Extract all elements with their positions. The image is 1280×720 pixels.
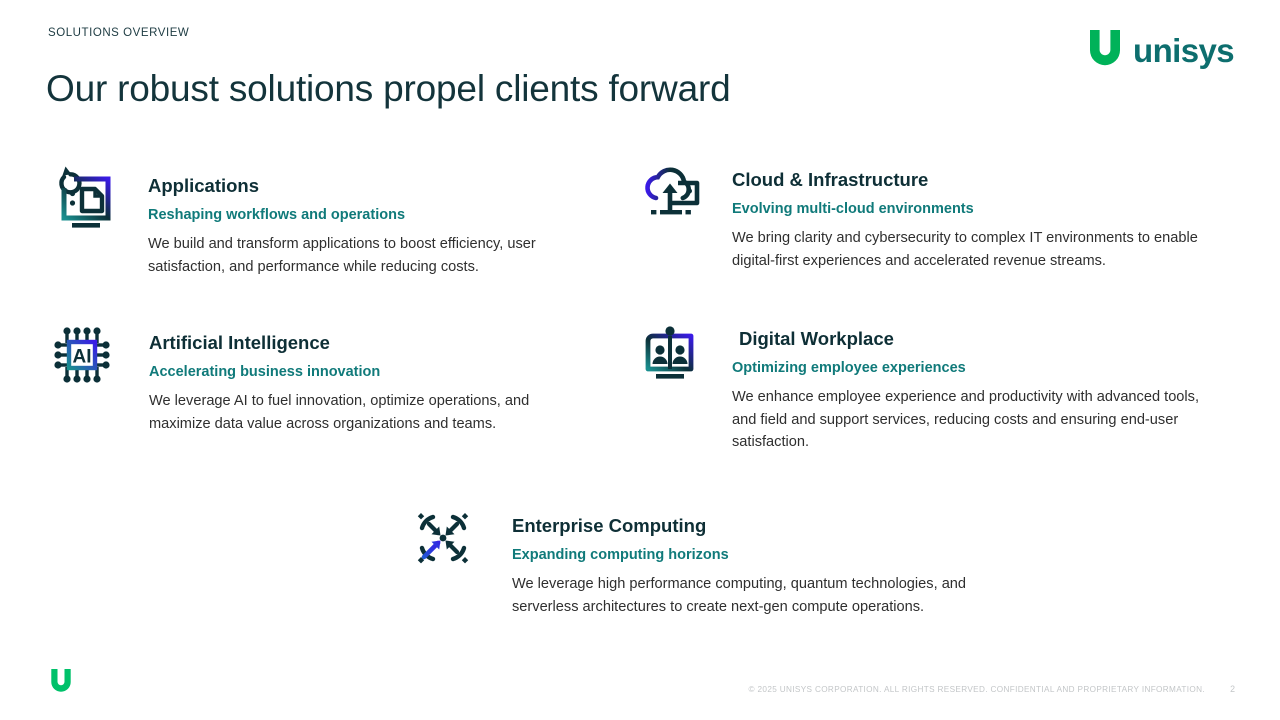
footer-copyright: © 2025 UNISYS CORPORATION. ALL RIGHTS RE…: [749, 685, 1206, 694]
app-window-refresh-icon: [46, 162, 118, 234]
card-applications: Applications Reshaping workflows and ope…: [46, 162, 566, 278]
card-title: Digital Workplace: [732, 328, 1214, 350]
card-artificial-intelligence: AI Artificial Intelligence Accelerating …: [46, 319, 566, 435]
cloud-server-upload-icon: [634, 158, 706, 230]
card-title: Cloud & Infrastructure: [732, 169, 1214, 191]
card-subtitle: Expanding computing horizons: [512, 546, 987, 565]
card-body: Enterprise Computing Expanding computing…: [512, 502, 987, 618]
card-title: Applications: [148, 175, 566, 197]
unisys-wordmark: unisys: [1133, 34, 1234, 67]
card-body: Cloud & Infrastructure Evolving multi-cl…: [732, 158, 1214, 272]
card-body: Applications Reshaping workflows and ope…: [148, 162, 566, 278]
presentation-people-icon: [634, 317, 706, 389]
card-cloud-infrastructure: Cloud & Infrastructure Evolving multi-cl…: [634, 158, 1214, 272]
card-description: We bring clarity and cybersecurity to co…: [732, 227, 1214, 272]
slide: SOLUTIONS OVERVIEW Our robust solutions …: [0, 0, 1280, 720]
converging-arrows-icon: [407, 502, 479, 574]
card-subtitle: Evolving multi-cloud environments: [732, 200, 1214, 219]
card-body: Artificial Intelligence Accelerating bus…: [149, 319, 566, 435]
card-body: Digital Workplace Optimizing employee ex…: [732, 317, 1214, 454]
card-description: We enhance employee experience and produ…: [732, 386, 1214, 454]
page-title: Our robust solutions propel clients forw…: [46, 66, 730, 112]
card-description: We build and transform applications to b…: [148, 233, 566, 278]
card-title: Enterprise Computing: [512, 515, 987, 537]
card-subtitle: Reshaping workflows and operations: [148, 206, 566, 225]
card-title: Artificial Intelligence: [149, 332, 566, 354]
eyebrow-label: SOLUTIONS OVERVIEW: [48, 27, 189, 39]
card-enterprise-computing: Enterprise Computing Expanding computing…: [407, 502, 987, 618]
card-description: We leverage AI to fuel innovation, optim…: [149, 390, 566, 435]
card-subtitle: Accelerating business innovation: [149, 363, 566, 382]
unisys-u-mark-icon: [1088, 28, 1122, 71]
footer-unisys-u-mark-icon: [50, 667, 72, 698]
card-digital-workplace: Digital Workplace Optimizing employee ex…: [634, 317, 1214, 454]
card-subtitle: Optimizing employee experiences: [732, 359, 1214, 378]
card-description: We leverage high performance computing, …: [512, 573, 987, 618]
unisys-logo: unisys: [1088, 30, 1234, 68]
page-number: 2: [1230, 684, 1235, 694]
svg-text:AI: AI: [73, 347, 92, 368]
ai-chip-icon: AI: [46, 319, 118, 391]
